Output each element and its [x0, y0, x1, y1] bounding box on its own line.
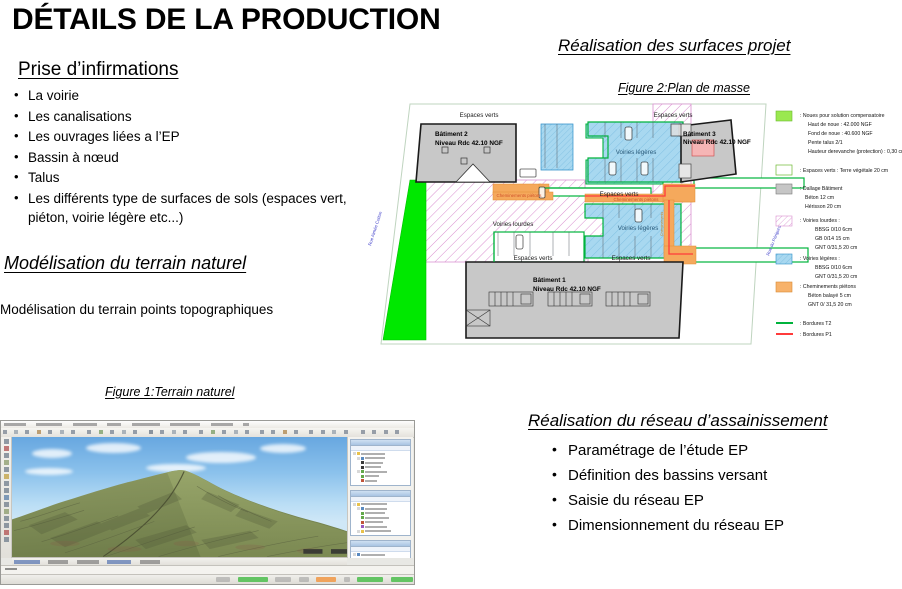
- command-line-text: [5, 568, 17, 570]
- plan-building-level: Niveau Rdc 42.10 NGF: [533, 286, 601, 293]
- toolbar-icon[interactable]: [199, 430, 203, 434]
- toolbar-icon[interactable]: [172, 430, 176, 434]
- status-item[interactable]: [275, 577, 291, 582]
- software-left-toolbar[interactable]: [1, 437, 12, 558]
- toolbar-icon[interactable]: [48, 430, 52, 434]
- plan-building-name: Bâtiment 1: [533, 277, 566, 284]
- toolbar-icon[interactable]: [3, 430, 7, 434]
- tool-icon[interactable]: [4, 488, 9, 493]
- software-status-bar[interactable]: [1, 574, 414, 584]
- plan-label-voiries-legeres: Voiries légères: [618, 225, 659, 232]
- figure-plan-de-masse: Espaces verts Espaces verts Espaces vert…: [353, 96, 902, 352]
- list-item: Bassin à nœud: [28, 148, 388, 168]
- tree-row[interactable]: [353, 461, 408, 464]
- tool-icon[interactable]: [4, 453, 9, 458]
- plan-building-level: Niveau Rdc 42.10 NGF: [683, 139, 751, 146]
- toolbar-icon[interactable]: [332, 430, 336, 434]
- menu-item[interactable]: [243, 423, 249, 426]
- plan-label-voiries-lourdes: Voiries lourdes: [493, 221, 534, 228]
- legend-title-espaces-verts: : Espaces verts : Terre végétale 20 cm: [800, 168, 888, 174]
- tool-icon[interactable]: [4, 467, 9, 472]
- panel-mnt-tree[interactable]: [350, 540, 411, 558]
- toolbar-icon[interactable]: [211, 430, 215, 434]
- cloud: [260, 444, 306, 453]
- menu-item[interactable]: [211, 423, 233, 426]
- street-label-small: Cheminements: [660, 212, 664, 236]
- legend-line: GNT 0/ 31,5 20 cm: [808, 302, 852, 308]
- list-item: Dimensionnement du réseau EP: [568, 513, 784, 538]
- plan-building-level: Niveau Rdc 42.10 NGF: [435, 140, 503, 147]
- page-title: DÉTAILS DE LA PRODUCTION: [12, 2, 441, 38]
- legend-swatch-dallage: [776, 184, 792, 194]
- tree-row[interactable]: [353, 457, 408, 460]
- tree-row[interactable]: [353, 507, 408, 510]
- toolbar-icon[interactable]: [71, 430, 75, 434]
- tool-icon[interactable]: [4, 481, 9, 486]
- legend-swatch-noue: [776, 111, 792, 121]
- layout-tab[interactable]: [14, 560, 40, 564]
- tool-icon[interactable]: [4, 495, 9, 500]
- menu-item[interactable]: [4, 423, 26, 426]
- heading-modelisation-terrain: Modélisation du terrain naturel: [4, 252, 246, 275]
- tool-icon[interactable]: [4, 460, 9, 465]
- legend-title-cheminements: : Cheminements piétons: [800, 284, 856, 290]
- panel-body: [351, 502, 410, 536]
- heading-realisation-surfaces: Réalisation des surfaces projet: [558, 35, 790, 57]
- toolbar-icon[interactable]: [60, 430, 64, 434]
- panel-terrain-tree[interactable]: [350, 490, 411, 537]
- terrain-mesh-3d: [12, 464, 347, 558]
- plan-label-voiries-legeres: Voiries légères: [616, 149, 657, 156]
- tree-row[interactable]: [353, 475, 408, 478]
- building-batiment-1: [466, 262, 683, 338]
- layout-tab[interactable]: [48, 560, 68, 564]
- cloud: [86, 443, 141, 453]
- cloud: [32, 449, 72, 458]
- legend-line: Béton 12 cm: [805, 195, 834, 201]
- legend-swatch-espaces-verts: [776, 165, 792, 175]
- tree-row[interactable]: [353, 466, 408, 469]
- toolbar-icon[interactable]: [321, 430, 325, 434]
- list-reseau-assainissement: Paramétrage de l’étude EP Définition des…: [530, 438, 784, 538]
- legend-line: Hauteur derevanche (protection) : 0,30 c…: [808, 149, 902, 155]
- layout-tab[interactable]: [77, 560, 99, 564]
- tool-icon[interactable]: [4, 474, 9, 479]
- tool-icon[interactable]: [4, 446, 9, 451]
- legend-swatch-cheminements: [776, 282, 792, 292]
- street-label: Rue Aimée Cotton: [367, 210, 383, 246]
- heading-prise-infirmations: Prise d’infirmations: [18, 58, 179, 82]
- toolbar-icon[interactable]: [99, 430, 103, 434]
- list-item: Définition des bassins versant: [568, 463, 784, 488]
- status-item[interactable]: [391, 577, 413, 582]
- legend-line: Pente talus 2/1: [808, 140, 843, 146]
- tool-icon[interactable]: [4, 509, 9, 514]
- legend-line: Haut de noue : 42.000 NGF: [808, 122, 872, 128]
- legend-line: Fond de noue : 40.600 NGF: [808, 131, 873, 137]
- tree-row[interactable]: [353, 525, 408, 528]
- list-item: Les ouvrages liées a l’EP: [28, 127, 388, 147]
- figure-terrain-naturel-screenshot: [0, 420, 415, 585]
- list-prise-infirmations: La voirie Les canalisations Les ouvrages…: [6, 86, 388, 229]
- legend-title-voiries-lourdes: : Voiries lourdes :: [800, 218, 840, 224]
- tool-icon[interactable]: [4, 502, 9, 507]
- plan-building-name: Bâtiment 2: [435, 131, 468, 138]
- plan-label-espaces-verts: Espaces verts: [612, 255, 651, 262]
- menu-item[interactable]: [132, 423, 160, 426]
- layout-tab[interactable]: [140, 560, 160, 564]
- legend-line: BBSG 0/10 6cm: [815, 227, 852, 233]
- toolbar-icon[interactable]: [309, 430, 313, 434]
- legend-title-noue: : Noues pour solution compensatoire: [800, 113, 885, 119]
- tree-row[interactable]: [353, 512, 408, 515]
- plan-label-cheminements-pietons: Cheminements piétons: [614, 197, 660, 202]
- toolbar-icon[interactable]: [122, 430, 126, 434]
- toolbar-icon[interactable]: [361, 430, 365, 434]
- legend-title-bordures-t2: : Bordures T2: [800, 321, 831, 327]
- legend-title-bordures-p1: : Bordures P1: [800, 332, 832, 338]
- legend-line: GNT 0/31,5 20 cm: [815, 274, 857, 280]
- toolbar-icon[interactable]: [372, 430, 376, 434]
- toolbar-icon[interactable]: [294, 430, 298, 434]
- tree-row[interactable]: [353, 479, 408, 482]
- tool-icon[interactable]: [4, 516, 9, 521]
- toolbar-icon[interactable]: [395, 430, 399, 434]
- toolbar-icon[interactable]: [271, 430, 275, 434]
- legend-line: GB 0/14 15 cm: [815, 236, 850, 242]
- terrain-3d-viewport[interactable]: [12, 437, 347, 558]
- status-item[interactable]: [357, 577, 383, 582]
- tree-row[interactable]: [353, 530, 408, 533]
- toolbar-icon[interactable]: [222, 430, 226, 434]
- tree-row[interactable]: [353, 516, 408, 519]
- tool-icon[interactable]: [4, 439, 9, 444]
- tree-row[interactable]: [353, 503, 408, 506]
- legend-line: Hérisson 20 cm: [805, 204, 841, 210]
- list-item: Les différents type de surfaces de sols …: [28, 189, 388, 228]
- heading-realisation-reseau: Réalisation du réseau d’assainissement: [528, 410, 828, 432]
- toolbar-icon[interactable]: [384, 430, 388, 434]
- toolbar-icon[interactable]: [25, 430, 29, 434]
- toolbar-icon[interactable]: [133, 430, 137, 434]
- cloud: [186, 452, 256, 463]
- menu-item[interactable]: [73, 423, 97, 426]
- tool-icon[interactable]: [4, 537, 9, 542]
- caption-figure-2: Figure 2:Plan de masse: [618, 81, 750, 95]
- toolbar-icon[interactable]: [37, 430, 41, 434]
- tool-icon[interactable]: [4, 523, 9, 528]
- panel-body: [351, 552, 410, 558]
- list-item: Talus: [28, 168, 388, 188]
- tree-row[interactable]: [353, 558, 408, 559]
- status-item[interactable]: [316, 577, 336, 582]
- plan-label-espaces-verts: Espaces verts: [460, 112, 499, 119]
- tool-icon[interactable]: [4, 530, 9, 535]
- plan-building-name: Bâtiment 3: [683, 131, 716, 138]
- list-item: Paramétrage de l’étude EP: [568, 438, 784, 463]
- panel-body: [351, 451, 410, 485]
- toolbar-icon[interactable]: [245, 430, 249, 434]
- legend-title-dallage: : Dallage Bâtiment: [800, 186, 843, 192]
- legend-swatch-voiries-legeres: [776, 254, 792, 264]
- panel-objects-tree[interactable]: [350, 439, 411, 486]
- list-item: La voirie: [28, 86, 388, 106]
- list-item: Saisie du réseau EP: [568, 488, 784, 513]
- legend-line: BBSG 0/10 6cm: [815, 265, 852, 271]
- menu-item[interactable]: [170, 423, 200, 426]
- status-item[interactable]: [238, 577, 268, 582]
- plan-label-espaces-verts: Espaces verts: [654, 112, 693, 119]
- menu-item[interactable]: [36, 423, 62, 426]
- status-item[interactable]: [216, 577, 230, 582]
- toolbar-icon[interactable]: [183, 430, 187, 434]
- toolbar-icon[interactable]: [110, 430, 114, 434]
- tree-row[interactable]: [353, 452, 408, 455]
- plan-legend: : Noues pour solution compensatoire Haut…: [776, 111, 902, 338]
- text-modelisation-terrain: Modélisation du terrain points topograph…: [0, 300, 273, 319]
- legend-line: GNT 0/31,5 20 cm: [815, 245, 857, 251]
- tree-row[interactable]: [353, 553, 408, 556]
- toolbar-icon[interactable]: [160, 430, 164, 434]
- plan-label-cheminements-pietons: Cheminements piétons: [497, 193, 543, 198]
- toolbar-icon[interactable]: [234, 430, 238, 434]
- toolbar-icon[interactable]: [260, 430, 264, 434]
- legend-title-voiries-legeres: : Voiries légères :: [800, 256, 840, 262]
- layout-tab[interactable]: [107, 560, 131, 564]
- toolbar-icon[interactable]: [87, 430, 91, 434]
- building-batiment-3: [679, 120, 736, 182]
- toolbar-icon[interactable]: [344, 430, 348, 434]
- plan-label-espaces-verts: Espaces verts: [514, 255, 553, 262]
- menu-item[interactable]: [107, 423, 121, 426]
- caption-figure-1: Figure 1:Terrain naturel: [105, 385, 234, 399]
- legend-line: Béton balayé 5 cm: [808, 293, 851, 299]
- tree-row[interactable]: [353, 470, 408, 473]
- tree-row[interactable]: [353, 521, 408, 524]
- toolbar-icon[interactable]: [149, 430, 153, 434]
- legend-swatch-voiries-lourdes: [776, 216, 792, 226]
- software-side-panels[interactable]: [347, 437, 413, 558]
- status-item[interactable]: [299, 577, 309, 582]
- list-item: Les canalisations: [28, 107, 388, 127]
- status-item[interactable]: [344, 577, 350, 582]
- toolbar-icon[interactable]: [14, 430, 18, 434]
- toolbar-icon[interactable]: [283, 430, 287, 434]
